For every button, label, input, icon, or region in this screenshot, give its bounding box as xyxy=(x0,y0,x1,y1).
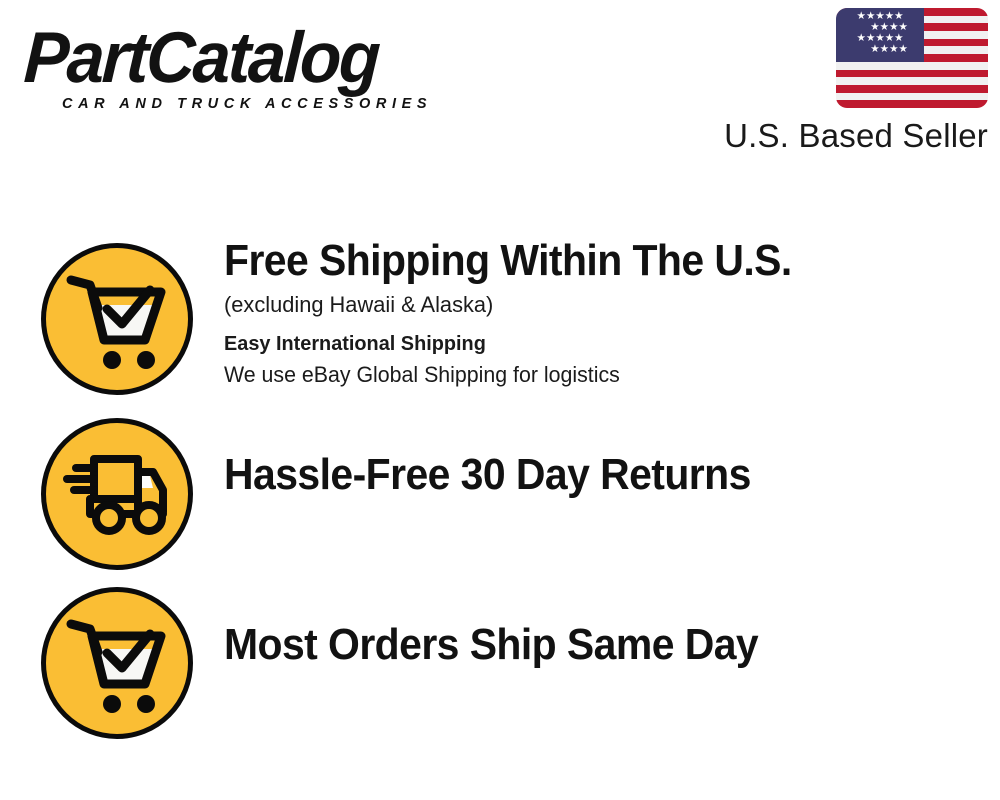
logo-wordmark: PartCatalog xyxy=(22,22,467,94)
brand-logo[interactable]: PartCatalog CAR AND TRUCK ACCESSORIES xyxy=(26,22,496,112)
flag-stripe xyxy=(836,77,988,85)
feature-headline: Most Orders Ship Same Day xyxy=(224,620,758,670)
shopping-cart-check-icon xyxy=(41,587,193,739)
flag-stripe xyxy=(836,100,988,108)
flag-star-row: ★★★★★ xyxy=(836,33,924,44)
flag-stripe xyxy=(836,85,988,93)
shopping-cart-check-icon xyxy=(41,243,193,395)
flag-star-row: ★★★★ xyxy=(836,22,942,33)
logo-tagline: CAR AND TRUCK ACCESSORIES xyxy=(62,96,496,112)
page-header: PartCatalog CAR AND TRUCK ACCESSORIES ★★… xyxy=(0,0,1000,175)
us-flag-icon: ★★★★★ ★★★★ ★★★★★ ★★★★ xyxy=(836,8,988,108)
delivery-truck-icon xyxy=(41,418,193,570)
feature-headline: Free Shipping Within The U.S. xyxy=(224,236,792,286)
feature-sub-heading: Easy International Shipping xyxy=(224,329,816,359)
feature-text-block: Free Shipping Within The U.S. (excluding… xyxy=(224,232,834,390)
flag-star-row: ★★★★ xyxy=(836,44,942,55)
feature-text-block: Hassle-Free 30 Day Returns xyxy=(224,412,790,500)
flag-stripe xyxy=(836,70,988,78)
flag-stripe xyxy=(836,93,988,101)
flag-canton: ★★★★★ ★★★★ ★★★★★ ★★★★ xyxy=(836,8,924,62)
feature-row-same-day-ship: Most Orders Ship Same Day xyxy=(0,582,1000,757)
feature-subline: (excluding Hawaii & Alaska) xyxy=(224,290,816,320)
feature-headline: Hassle-Free 30 Day Returns xyxy=(224,450,751,500)
flag-stripe xyxy=(836,62,988,70)
seller-label: U.S. Based Seller xyxy=(718,117,988,155)
feature-sub-detail: We use eBay Global Shipping for logistic… xyxy=(224,360,816,390)
feature-row-returns: Hassle-Free 30 Day Returns xyxy=(0,412,1000,582)
feature-text-block: Most Orders Ship Same Day xyxy=(224,582,798,670)
us-based-seller-badge: ★★★★★ ★★★★ ★★★★★ ★★★★ U.S. Based Seller xyxy=(718,8,988,155)
feature-row-free-shipping: Free Shipping Within The U.S. (excluding… xyxy=(0,232,1000,412)
